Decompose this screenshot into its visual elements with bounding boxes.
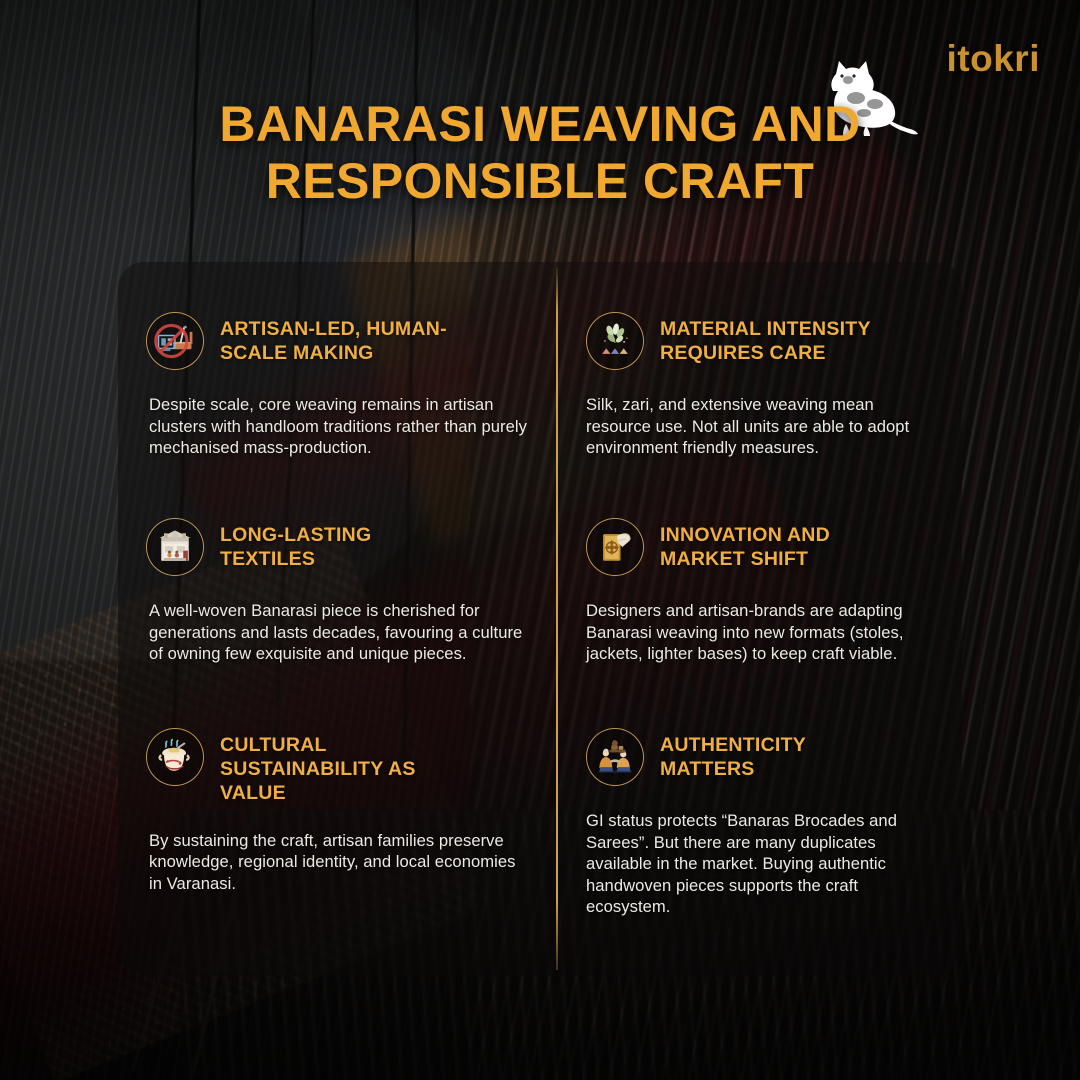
card-header: MATERIAL INTENSITY REQUIRES CARE	[586, 312, 936, 370]
title-line-1: BANARASI WEAVING AND	[219, 96, 860, 152]
title-line-2: RESPONSIBLE CRAFT	[266, 153, 815, 209]
card-header: AUTHENTICITY MATTERS	[586, 728, 936, 786]
page-title: BANARASI WEAVING AND RESPONSIBLE CRAFT	[0, 96, 1080, 210]
hand-holding-fabric-icon	[586, 518, 644, 576]
dye-pot-icon	[146, 728, 204, 786]
card-header: ARTISAN-LED, HUMAN-SCALE MAKING	[146, 312, 528, 370]
card-authenticity-matters: AUTHENTICITY MATTERS GI status protects …	[556, 678, 962, 894]
card-grid: ARTISAN-LED, HUMAN-SCALE MAKING Despite …	[118, 262, 962, 976]
card-title: AUTHENTICITY MATTERS	[660, 728, 892, 781]
card-body: A well-woven Banarasi piece is cherished…	[149, 600, 528, 665]
no-machine-icon	[146, 312, 204, 370]
infographic-poster: itokri BANARASI WEAVING AND RESPONSIBLE …	[0, 0, 1080, 1080]
card-header: LONG-LASTING TEXTILES	[146, 518, 528, 576]
card-body: By sustaining the craft, artisan familie…	[149, 830, 528, 895]
card-body: Despite scale, core weaving remains in a…	[149, 394, 528, 459]
card-cultural-sustainability: CULTURAL SUSTAINABILITY AS VALUE By sust…	[118, 678, 556, 894]
card-title: MATERIAL INTENSITY REQUIRES CARE	[660, 312, 892, 365]
card-header: INNOVATION AND MARKET SHIFT	[586, 518, 936, 576]
card-header: CULTURAL SUSTAINABILITY AS VALUE	[146, 728, 528, 806]
card-body: Silk, zari, and extensive weaving mean r…	[586, 394, 936, 459]
card-title: ARTISAN-LED, HUMAN-SCALE MAKING	[220, 312, 470, 365]
card-body: Designers and artisan-brands are adaptin…	[586, 600, 936, 665]
card-body: GI status protects “Banaras Brocades and…	[586, 810, 936, 918]
card-long-lasting-textiles: LONG-LASTING TEXTILES A well-woven Banar…	[118, 468, 556, 678]
card-title: LONG-LASTING TEXTILES	[220, 518, 470, 571]
card-title: CULTURAL SUSTAINABILITY AS VALUE	[220, 728, 470, 806]
card-artisan-led: ARTISAN-LED, HUMAN-SCALE MAKING Despite …	[118, 262, 556, 468]
card-material-intensity: MATERIAL INTENSITY REQUIRES CARE Silk, z…	[556, 262, 962, 468]
brand-logo[interactable]: itokri	[947, 40, 1040, 77]
card-innovation-market-shift: INNOVATION AND MARKET SHIFT Designers an…	[556, 468, 962, 678]
craft-shop-icon	[146, 518, 204, 576]
two-artisans-icon	[586, 728, 644, 786]
leaves-sprout-icon	[586, 312, 644, 370]
card-title: INNOVATION AND MARKET SHIFT	[660, 518, 892, 571]
